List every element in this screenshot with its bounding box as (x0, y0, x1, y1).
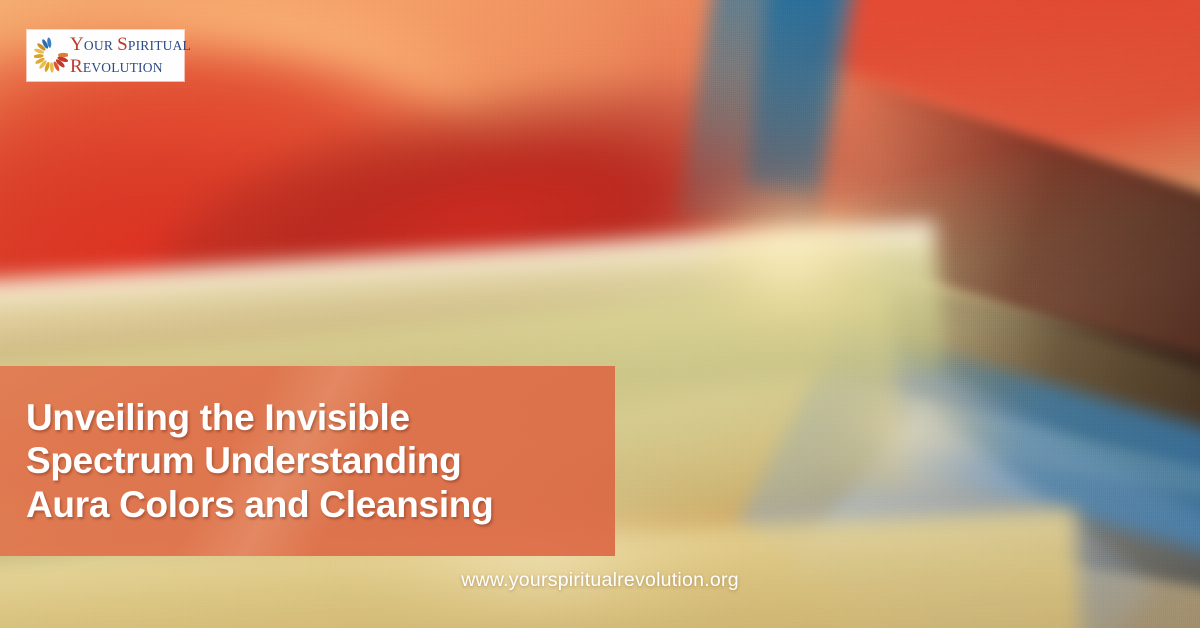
logo-y-cap: Y (70, 34, 84, 55)
brand-logo[interactable]: YOUR SPIRITUAL REVOLUTION (27, 30, 184, 81)
hero-title-line-1: Unveiling the Invisible (26, 396, 615, 440)
hero-title-line-3: Aura Colors and Cleansing (26, 483, 615, 527)
logo-your-rest: OUR (84, 38, 113, 53)
sunburst-petals-logo-icon (34, 36, 68, 76)
hero-title-line-2: Spectrum Understanding (26, 439, 615, 483)
hero-title-panel: Unveiling the Invisible Spectrum Underst… (0, 366, 615, 556)
brand-logo-wordmark: YOUR SPIRITUAL REVOLUTION (70, 35, 191, 76)
logo-s-cap: S (117, 34, 128, 55)
website-url[interactable]: www.yourspiritualrevolution.org (0, 569, 1200, 592)
logo-revolution-rest: EVOLUTION (83, 60, 163, 75)
hero-banner: YOUR SPIRITUAL REVOLUTION Unveiling the … (0, 0, 1200, 628)
logo-r-cap: R (70, 56, 83, 77)
logo-spiritual-rest: PIRITUAL (128, 38, 191, 53)
